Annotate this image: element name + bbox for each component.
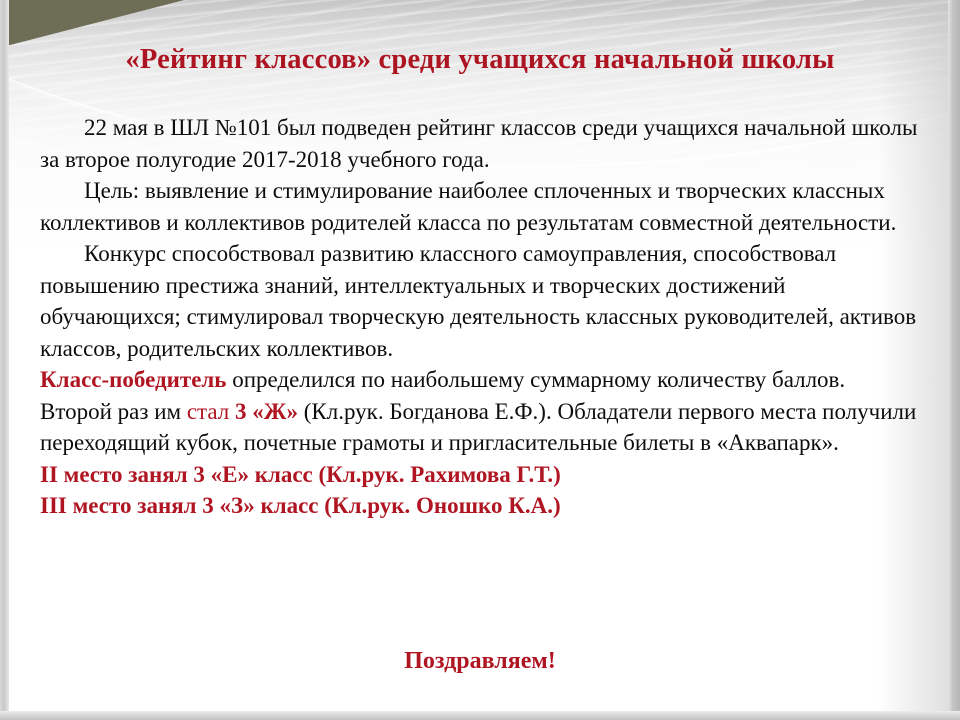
winner-label: Класс-победитель bbox=[40, 367, 226, 392]
congratulations-line: Поздравляем! bbox=[40, 648, 920, 675]
third-place-line: III место занял 3 «З» класс (Кл.рук. Оно… bbox=[40, 490, 920, 522]
second-place-line: II место занял 3 «Е» класс (Кл.рук. Рахи… bbox=[40, 459, 920, 491]
winner-verb: стал bbox=[187, 399, 229, 424]
paragraph-goal: Цель: выявление и стимулирование наиболе… bbox=[40, 175, 920, 238]
paragraph-announcement: 22 мая в ШЛ №101 был подведен рейтинг кл… bbox=[40, 112, 920, 175]
slide-title: «Рейтинг классов» среди учащихся начальн… bbox=[40, 44, 920, 75]
presentation-slide: «Рейтинг классов» среди учащихся начальн… bbox=[0, 0, 960, 720]
winner-class-name: 3 «Ж» bbox=[229, 399, 298, 424]
paragraph-contest-effects: Конкурс способствовал развитию классного… bbox=[40, 238, 920, 364]
slide-body-text: 22 мая в ШЛ №101 был подведен рейтинг кл… bbox=[40, 112, 920, 522]
slide-content: «Рейтинг классов» среди учащихся начальн… bbox=[0, 0, 960, 720]
paragraph-winner: Класс-победитель определился по наибольш… bbox=[40, 364, 920, 459]
